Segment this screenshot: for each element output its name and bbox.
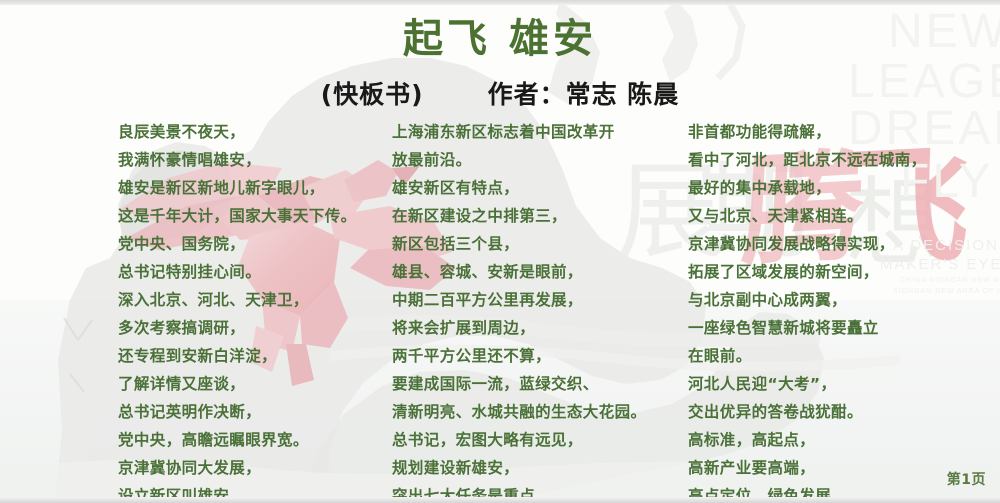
poem-line: 雄县、容城、安新是眼前， [392, 258, 682, 286]
poem-line: 河北人民迎“大考”， [688, 370, 988, 398]
slide-canvas: 展 期 想 腾 飞 NEW LEAGE DREAM FLY A DECISION… [0, 0, 1000, 503]
poem-line: 将来会扩展到周边， [392, 314, 682, 342]
bottom-edge-bar [0, 497, 1000, 503]
poem-line: 了解详情又座谈， [118, 370, 383, 398]
poem-line: 党中央、国务院， [118, 230, 383, 258]
poem-line: 京津冀协同大发展， [118, 454, 383, 482]
poem-line: 一座绿色智慧新城将要矗立 [688, 314, 988, 342]
poem-line: 深入北京、河北、天津卫， [118, 286, 383, 314]
poem-line: 又与北京、天津紧相连。 [688, 202, 988, 230]
poem-line: 拓展了区域发展的新空间， [688, 258, 988, 286]
subtitle-line: (快板书)作者：常志 陈晨 [0, 63, 1000, 111]
poem-column-3: 非首都功能得疏解，看中了河北，距北京不远在城南，最好的集中承载地，又与北京、天津… [688, 118, 988, 503]
poem-line: 非首都功能得疏解， [688, 118, 988, 146]
poem-line: 雄安新区有特点， [392, 174, 682, 202]
author-label: 作者：常志 陈晨 [488, 80, 680, 109]
poem-line: 中期二百平方公里再发展， [392, 286, 682, 314]
poem-body: 良辰美景不夜天，我满怀豪情唱雄安，雄安是新区新地儿新字眼儿，这是千年大计，国家大… [0, 118, 1000, 498]
poem-line: 总书记，宏图大略有远见， [392, 426, 682, 454]
poem-line: 多次考察搞调研， [118, 314, 383, 342]
poem-line: 党中央，高瞻远瞩眼界宽。 [118, 426, 383, 454]
poem-line: 高标准，高起点， [688, 426, 988, 454]
poem-line: 还专程到安新白洋淀， [118, 342, 383, 370]
poem-line: 放最前沿。 [392, 146, 682, 174]
poem-line: 两千平方公里还不算， [392, 342, 682, 370]
poem-line: 高新产业要高端， [688, 454, 988, 482]
poem-line: 规划建设新雄安， [392, 454, 682, 482]
genre-label: (快板书) [321, 80, 424, 109]
page-number: 第1页 [947, 469, 986, 489]
poem-column-1: 良辰美景不夜天，我满怀豪情唱雄安，雄安是新区新地儿新字眼儿，这是千年大计，国家大… [118, 118, 383, 503]
page-title: 起飞 雄安 [0, 0, 1000, 63]
poem-line: 这是千年大计，国家大事天下传。 [118, 202, 383, 230]
poem-line: 交出优异的答卷战犹酣。 [688, 398, 988, 426]
poem-line: 在眼前。 [688, 342, 988, 370]
poem-line: 与北京副中心成两翼， [688, 286, 988, 314]
poem-line: 最好的集中承载地， [688, 174, 988, 202]
poem-line: 看中了河北，距北京不远在城南， [688, 146, 988, 174]
poem-line: 在新区建设之中排第三， [392, 202, 682, 230]
poem-line: 新区包括三个县， [392, 230, 682, 258]
poem-line: 京津冀协同发展战略得实现， [688, 230, 988, 258]
poem-line: 清新明亮、水城共融的生态大花园。 [392, 398, 682, 426]
poem-line: 总书记英明作决断， [118, 398, 383, 426]
poem-line: 总书记特别挂心间。 [118, 258, 383, 286]
poem-line: 上海浦东新区标志着中国改革开 [392, 118, 682, 146]
poem-line: 良辰美景不夜天， [118, 118, 383, 146]
poem-line: 要建成国际一流，蓝绿交织、 [392, 370, 682, 398]
poem-column-2: 上海浦东新区标志着中国改革开放最前沿。雄安新区有特点，在新区建设之中排第三，新区… [392, 118, 682, 503]
poem-line: 我满怀豪情唱雄安， [118, 146, 383, 174]
top-edge-bar [0, 0, 1000, 5]
poem-line: 雄安是新区新地儿新字眼儿， [118, 174, 383, 202]
title-block: 起飞 雄安 (快板书)作者：常志 陈晨 [0, 0, 1000, 111]
